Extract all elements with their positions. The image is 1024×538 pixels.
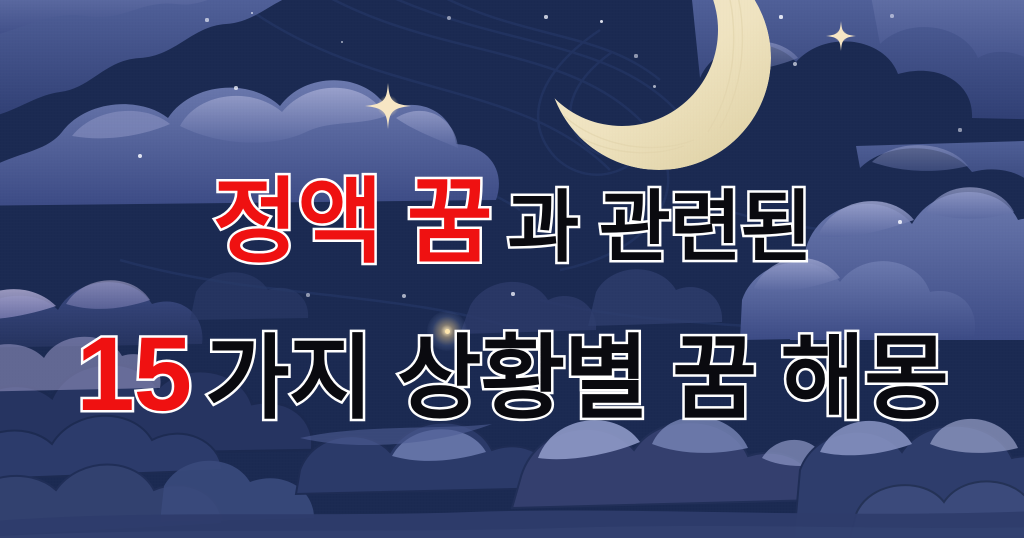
star-dot (544, 15, 547, 18)
sparkle-large-left-icon (365, 83, 411, 129)
star-dot (402, 294, 406, 298)
star-dot (600, 20, 603, 23)
headline-line2-rest: 가지 상황별 꿈 해몽 (205, 333, 948, 425)
star-dot (634, 54, 637, 57)
star-dot (306, 293, 310, 297)
star-dot (251, 12, 254, 15)
headline-line1-rest: 과 관련된 (507, 188, 811, 266)
sparkle-small-right-icon (826, 21, 856, 51)
star-dot (779, 15, 782, 18)
star-dot (447, 16, 451, 20)
headline-line-1: 정액 꿈과 관련된 (0, 176, 1024, 269)
star-dot (205, 18, 208, 21)
headline-line1-accent: 정액 꿈 (213, 176, 492, 269)
star-dot (234, 86, 238, 90)
star-dot (890, 14, 894, 18)
headline-line2-accent: 15 (76, 322, 191, 427)
star-dot (511, 292, 514, 295)
star-dot (653, 85, 656, 88)
dream-interpretation-banner: 정액 꿈과 관련된 15가지 상황별 꿈 해몽 (0, 0, 1024, 538)
star-dot (138, 154, 142, 158)
headline-line-2: 15가지 상황별 꿈 해몽 (0, 322, 1024, 427)
star-dot (958, 128, 961, 131)
star-dot (341, 41, 344, 44)
star-dot (793, 62, 797, 66)
